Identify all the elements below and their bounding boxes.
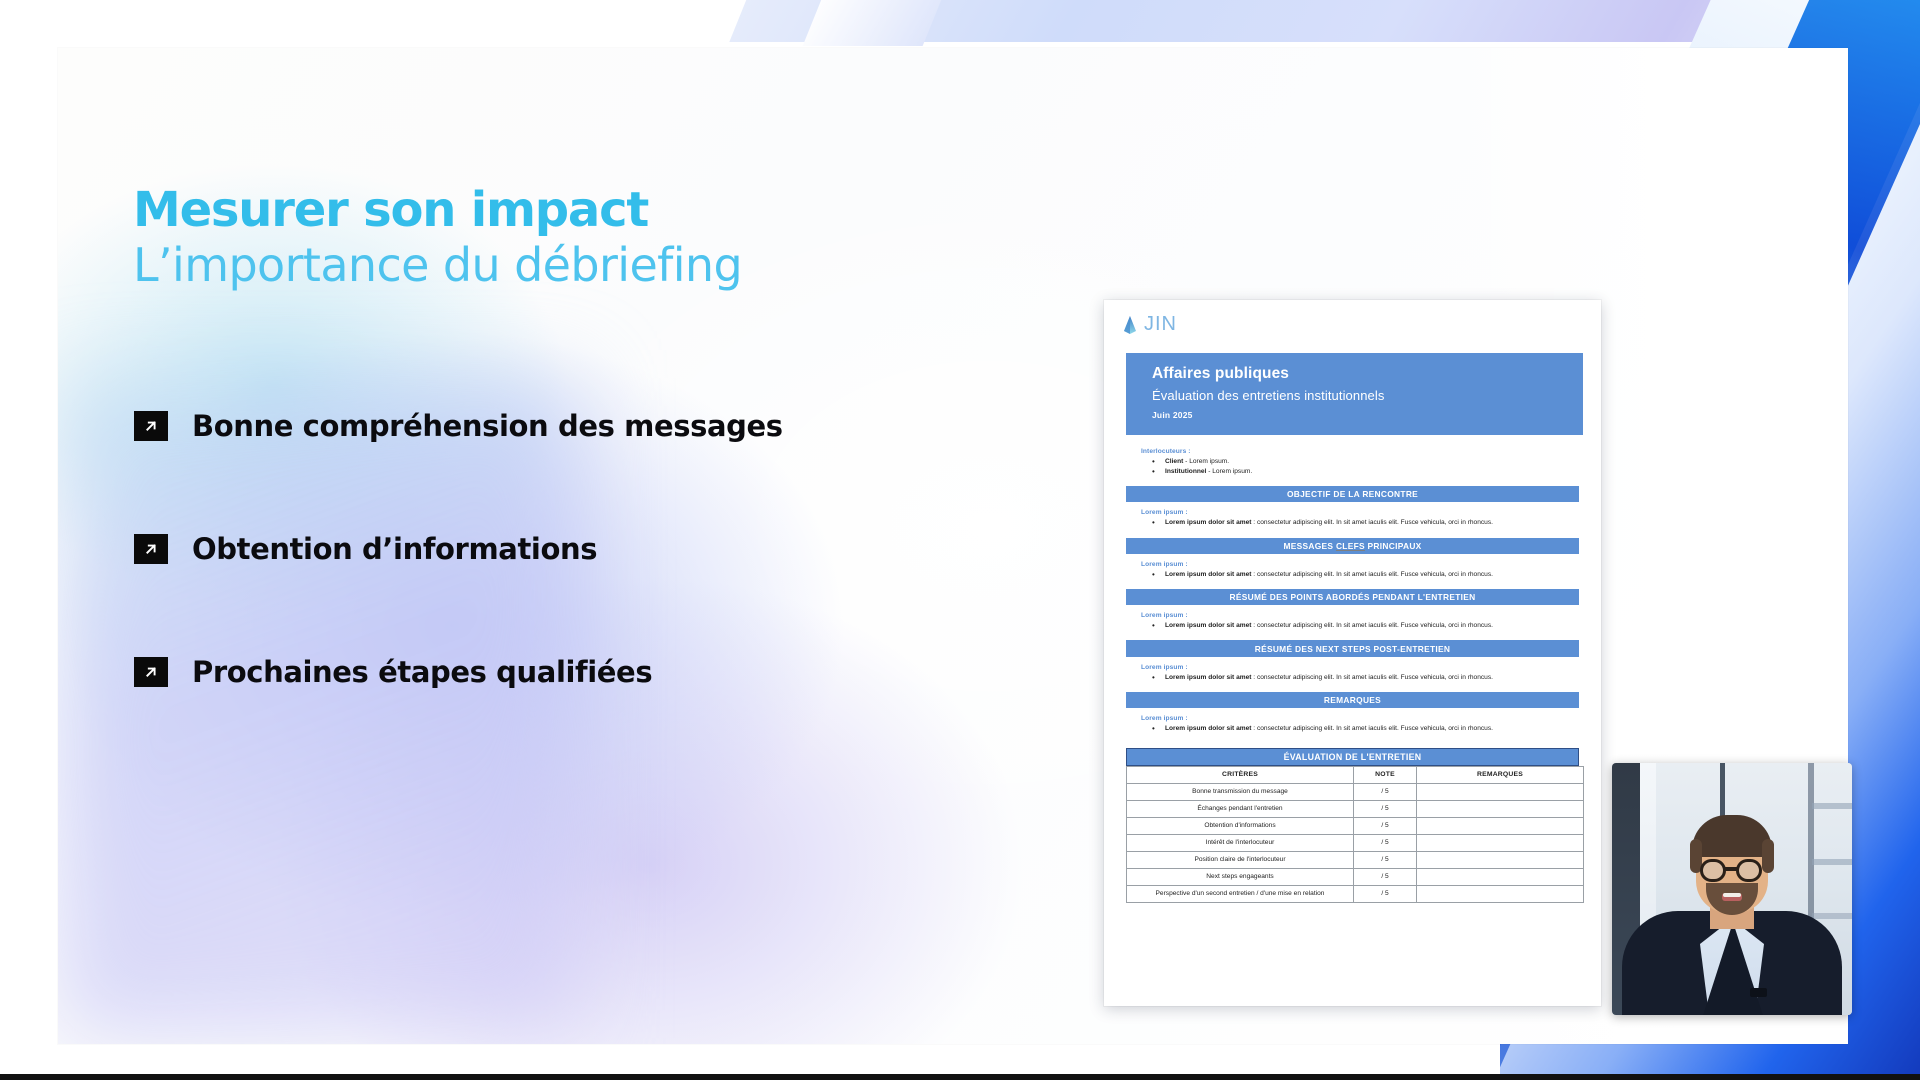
item-bold: Lorem ipsum dolor sit amet [1165, 519, 1251, 526]
list-item: Bonne compréhension des messages [134, 404, 1034, 448]
item-rest: : consectetur adipiscing elit. In sit am… [1251, 674, 1493, 681]
bullet-list: Bonne compréhension des messages Obtenti… [134, 404, 1034, 694]
document-body: Interlocuteurs : Client - Lorem ipsum. I… [1104, 440, 1601, 903]
section-header-remarques: REMARQUES [1126, 692, 1579, 708]
cell-remarque [1417, 783, 1584, 800]
section-list: Lorem ipsum dolor sit amet : consectetur… [1141, 724, 1601, 734]
item-rest: : consectetur adipiscing elit. In sit am… [1251, 622, 1493, 629]
interlocuteurs-lead: Interlocuteurs : [1141, 448, 1601, 455]
item-bold: Client [1165, 458, 1183, 465]
jin-droplet-logo-icon [1122, 315, 1138, 335]
cell-critere: Position claire de l'interlocuteur [1127, 851, 1354, 868]
item-rest: - Lorem ipsum. [1206, 468, 1252, 475]
table-row: Perspective d'un second entretien / d'un… [1127, 885, 1584, 902]
section-title-post: PRINCIPAUX [1365, 541, 1422, 551]
section-list: Lorem ipsum dolor sit amet : consectetur… [1141, 621, 1601, 631]
cell-critere: Perspective d'un second entretien / d'un… [1127, 885, 1354, 902]
presenter-teeth [1723, 893, 1741, 897]
item-bold: Lorem ipsum dolor sit amet [1165, 725, 1251, 732]
cell-note: / 5 [1354, 885, 1417, 902]
lapel-microphone-icon [1750, 988, 1767, 997]
presenter-video-tile[interactable] [1612, 763, 1852, 1015]
eyeglasses-left-lens-icon [1700, 859, 1726, 882]
section-header-objectif: OBJECTIF DE LA RENCONTRE [1126, 486, 1579, 502]
eyeglasses-right-lens-icon [1736, 859, 1762, 882]
presenter-hair-right [1762, 839, 1774, 873]
page-title: Mesurer son impact [133, 185, 742, 236]
table-row: Position claire de l'interlocuteur / 5 [1127, 851, 1584, 868]
section-lead: Lorem ipsum : [1141, 664, 1601, 671]
document-hero-subtitle: Évaluation des entretiens institutionnel… [1152, 388, 1583, 403]
section-body: Lorem ipsum : Lorem ipsum dolor sit amet… [1104, 708, 1601, 734]
section-title-pre: MESSAGES [1283, 541, 1336, 551]
page-subtitle: L’importance du débriefing [133, 238, 742, 292]
list-item: Lorem ipsum dolor sit amet : consectetur… [1141, 724, 1601, 734]
section-list: Lorem ipsum dolor sit amet : consectetur… [1141, 570, 1601, 580]
cell-remarque [1417, 868, 1584, 885]
list-item: Lorem ipsum dolor sit amet : consectetur… [1141, 673, 1601, 683]
document-hero-banner: Affaires publiques Évaluation des entret… [1126, 353, 1583, 435]
column-header-note: NOTE [1354, 766, 1417, 783]
cell-remarque [1417, 851, 1584, 868]
section-body: Lorem ipsum : Lorem ipsum dolor sit amet… [1104, 605, 1601, 631]
cell-note: / 5 [1354, 800, 1417, 817]
table-row: Next steps engageants / 5 [1127, 868, 1584, 885]
section-header-evaluation: ÉVALUATION DE L'ENTRETIEN [1126, 748, 1579, 766]
cell-critere: Next steps engageants [1127, 868, 1354, 885]
item-bold: Institutionnel [1165, 468, 1206, 475]
cell-note: / 5 [1354, 868, 1417, 885]
list-item: Institutionnel - Lorem ipsum. [1141, 467, 1601, 477]
list-item: Lorem ipsum dolor sit amet : consectetur… [1141, 570, 1601, 580]
column-header-remarques: REMARQUES [1417, 766, 1584, 783]
bottom-bar [0, 1074, 1920, 1080]
top-diagonal-band-accent [803, 0, 958, 46]
arrow-up-right-icon [134, 411, 168, 441]
list-item: Prochaines étapes qualifiées [134, 650, 1034, 694]
item-rest: - Lorem ipsum. [1183, 458, 1229, 465]
background-shelf [1812, 913, 1852, 919]
table-row: Échanges pendant l'entretien / 5 [1127, 800, 1584, 817]
evaluation-table: CRITÈRES NOTE REMARQUES Bonne transmissi… [1126, 766, 1584, 903]
table-row: Bonne transmission du message / 5 [1127, 783, 1584, 800]
section-title-underlined: CLEFS [1336, 541, 1365, 551]
list-item: Obtention d’informations [134, 527, 1034, 571]
item-rest: : consectetur adipiscing elit. In sit am… [1251, 725, 1493, 732]
list-item-label: Prochaines étapes qualifiées [192, 655, 652, 689]
table-row: Obtention d'informations / 5 [1127, 817, 1584, 834]
section-lead: Lorem ipsum : [1141, 561, 1601, 568]
cell-note: / 5 [1354, 851, 1417, 868]
item-rest: : consectetur adipiscing elit. In sit am… [1251, 519, 1493, 526]
table-row: Intérêt de l'interlocuteur / 5 [1127, 834, 1584, 851]
list-item: Lorem ipsum dolor sit amet : consectetur… [1141, 621, 1601, 631]
document-brand: JIN [1122, 313, 1177, 336]
background-shelf [1812, 803, 1852, 809]
document-hero-date: Juin 2025 [1152, 410, 1583, 420]
cell-note: / 5 [1354, 817, 1417, 834]
arrow-up-right-icon [134, 534, 168, 564]
cell-critere: Obtention d'informations [1127, 817, 1354, 834]
list-item: Client - Lorem ipsum. [1141, 457, 1601, 467]
arrow-up-right-icon [134, 657, 168, 687]
cell-critere: Bonne transmission du message [1127, 783, 1354, 800]
eyeglasses-bridge-icon [1725, 867, 1737, 871]
table-header-row: CRITÈRES NOTE REMARQUES [1127, 766, 1584, 783]
section-lead: Lorem ipsum : [1141, 612, 1601, 619]
cell-note: / 5 [1354, 834, 1417, 851]
list-item: Lorem ipsum dolor sit amet : consectetur… [1141, 518, 1601, 528]
cell-note: / 5 [1354, 783, 1417, 800]
section-header-next-steps: RÉSUMÉ DES NEXT STEPS POST-ENTRETIEN [1126, 640, 1579, 657]
cell-remarque [1417, 800, 1584, 817]
section-header-resume-points: RÉSUMÉ DES POINTS ABORDÉS PENDANT L'ENTR… [1126, 589, 1579, 605]
column-header-criteres: CRITÈRES [1127, 766, 1354, 783]
cell-remarque [1417, 885, 1584, 902]
section-body: Lorem ipsum : Lorem ipsum dolor sit amet… [1104, 502, 1601, 528]
brand-label: JIN [1144, 313, 1177, 336]
interlocuteurs-block: Interlocuteurs : Client - Lorem ipsum. I… [1104, 440, 1601, 477]
section-header-messages-clefs: MESSAGES CLEFS PRINCIPAUX [1126, 538, 1579, 554]
section-lead: Lorem ipsum : [1141, 509, 1601, 516]
section-lead: Lorem ipsum : [1141, 715, 1601, 722]
table-body: Bonne transmission du message / 5 Échang… [1127, 783, 1584, 902]
item-bold: Lorem ipsum dolor sit amet [1165, 674, 1251, 681]
slide-headings: Mesurer son impact L’importance du débri… [133, 185, 742, 292]
cell-remarque [1417, 834, 1584, 851]
cell-critere: Échanges pendant l'entretien [1127, 800, 1354, 817]
interlocuteurs-list: Client - Lorem ipsum. Institutionnel - L… [1141, 457, 1601, 477]
background-shelf [1812, 859, 1852, 865]
section-list: Lorem ipsum dolor sit amet : consectetur… [1141, 518, 1601, 528]
cell-remarque [1417, 817, 1584, 834]
item-bold: Lorem ipsum dolor sit amet [1165, 571, 1251, 578]
list-item-label: Obtention d’informations [192, 532, 597, 566]
item-rest: : consectetur adipiscing elit. In sit am… [1251, 571, 1493, 578]
section-body: Lorem ipsum : Lorem ipsum dolor sit amet… [1104, 554, 1601, 580]
slide-surface: Mesurer son impact L’importance du débri… [58, 48, 1848, 1044]
presentation-stage: Mesurer son impact L’importance du débri… [0, 0, 1920, 1080]
cell-critere: Intérêt de l'interlocuteur [1127, 834, 1354, 851]
document-hero-title: Affaires publiques [1152, 365, 1583, 383]
section-list: Lorem ipsum dolor sit amet : consectetur… [1141, 673, 1601, 683]
top-diagonal-band [729, 0, 1920, 42]
section-body: Lorem ipsum : Lorem ipsum dolor sit amet… [1104, 657, 1601, 683]
list-item-label: Bonne compréhension des messages [192, 409, 783, 443]
item-bold: Lorem ipsum dolor sit amet [1165, 622, 1251, 629]
document-preview: JIN Affaires publiques Évaluation des en… [1104, 300, 1601, 1006]
